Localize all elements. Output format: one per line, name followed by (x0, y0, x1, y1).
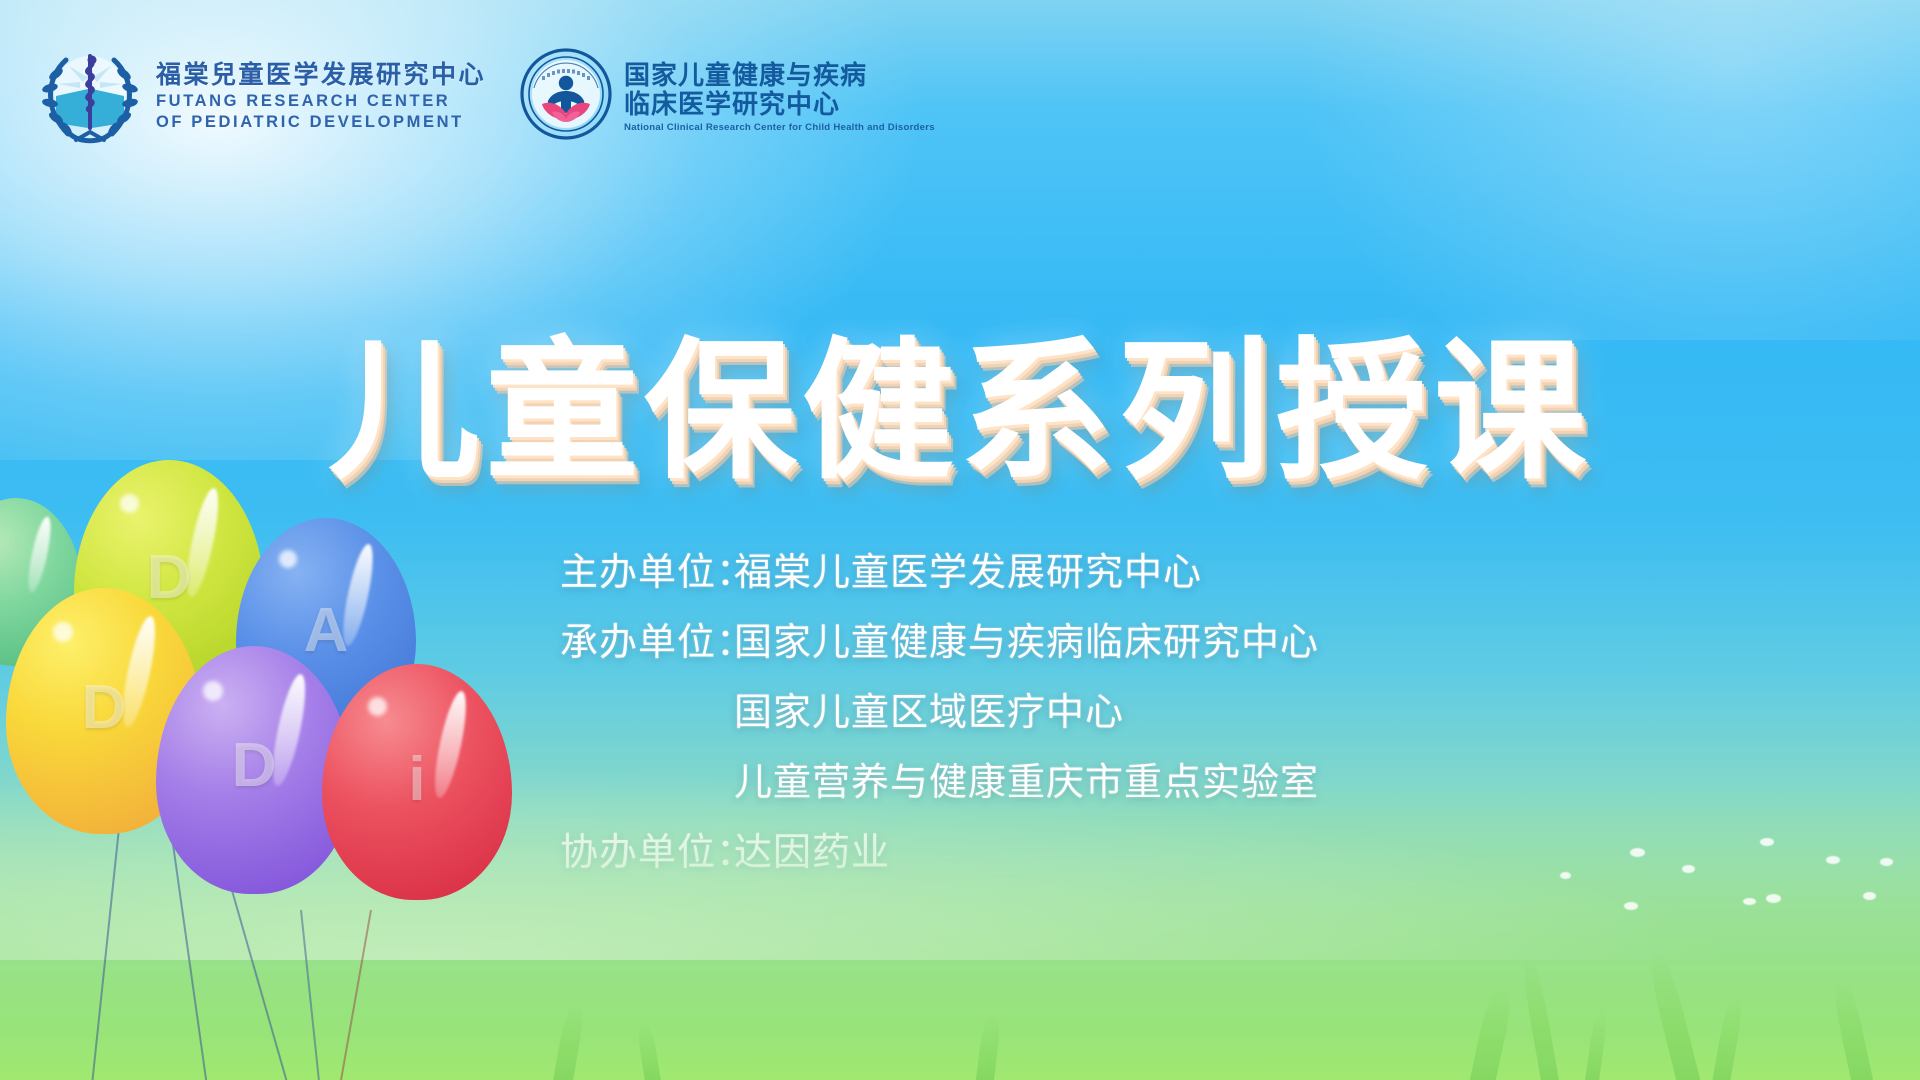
info-value-organizer: 国家儿童健康与疾病临床研究中心 (734, 608, 1660, 678)
balloon-glint (203, 681, 223, 701)
balloon-glint (368, 697, 387, 716)
info-row-organizer: 承办单位： 国家儿童健康与疾病临床研究中心 (560, 608, 1660, 678)
logo-futang-en-line2: OF PEDIATRIC DEVELOPMENT (156, 114, 486, 131)
info-row-organizer-2: 国家儿童区域医疗中心 (560, 678, 1660, 748)
balloon-string (300, 910, 325, 1080)
laurel-wreath-book-caduceus-icon (36, 40, 144, 153)
logo-nccr-cn-line2: 临床医学研究中心 (624, 90, 935, 119)
balloon-highlight (24, 516, 54, 595)
balloon-string (332, 910, 372, 1080)
balloon-glint (279, 550, 297, 568)
info-value-organizer-2: 国家儿童区域医疗中心 (734, 678, 1660, 748)
logo-nccr-text: 国家儿童健康与疾病 临床医学研究中心 National Clinical Res… (624, 61, 935, 133)
logo-nccr-en-line1: National Clinical Research Center for Ch… (624, 123, 935, 133)
balloon-string (228, 880, 293, 1080)
info-value-host: 福棠儿童医学发展研究中心 (734, 538, 1660, 608)
slide-root: 福棠兒童医学发展研究中心 FUTANG RESEARCH CENTER OF P… (0, 0, 1920, 1080)
balloon-letter: i (322, 744, 512, 815)
logo-nccr: 国家儿童健康与疾病 临床医学研究中心 National Clinical Res… (520, 48, 935, 145)
logo-futang-en-line1: FUTANG RESEARCH CENTER (156, 93, 486, 110)
logo-futang-cn: 福棠兒童医学发展研究中心 (156, 63, 486, 88)
balloon-glint (53, 622, 73, 642)
logo-row: 福棠兒童医学发展研究中心 FUTANG RESEARCH CENTER OF P… (36, 40, 935, 153)
balloon-red: i (322, 664, 512, 900)
info-label-host: 主办单位： (560, 538, 734, 608)
logo-futang: 福棠兒童医学发展研究中心 FUTANG RESEARCH CENTER OF P… (36, 40, 486, 153)
logo-nccr-cn-line1: 国家儿童健康与疾病 (624, 61, 935, 90)
circular-child-lotus-icon (520, 48, 612, 145)
info-label-organizer: 承办单位： (560, 608, 734, 678)
info-row-host: 主办单位： 福棠儿童医学发展研究中心 (560, 538, 1660, 608)
balloon-cluster: D A D D i (0, 460, 530, 1080)
info-label-organizer-2 (560, 678, 734, 748)
balloon-glint (120, 494, 139, 513)
logo-futang-text: 福棠兒童医学发展研究中心 FUTANG RESEARCH CENTER OF P… (156, 63, 486, 131)
